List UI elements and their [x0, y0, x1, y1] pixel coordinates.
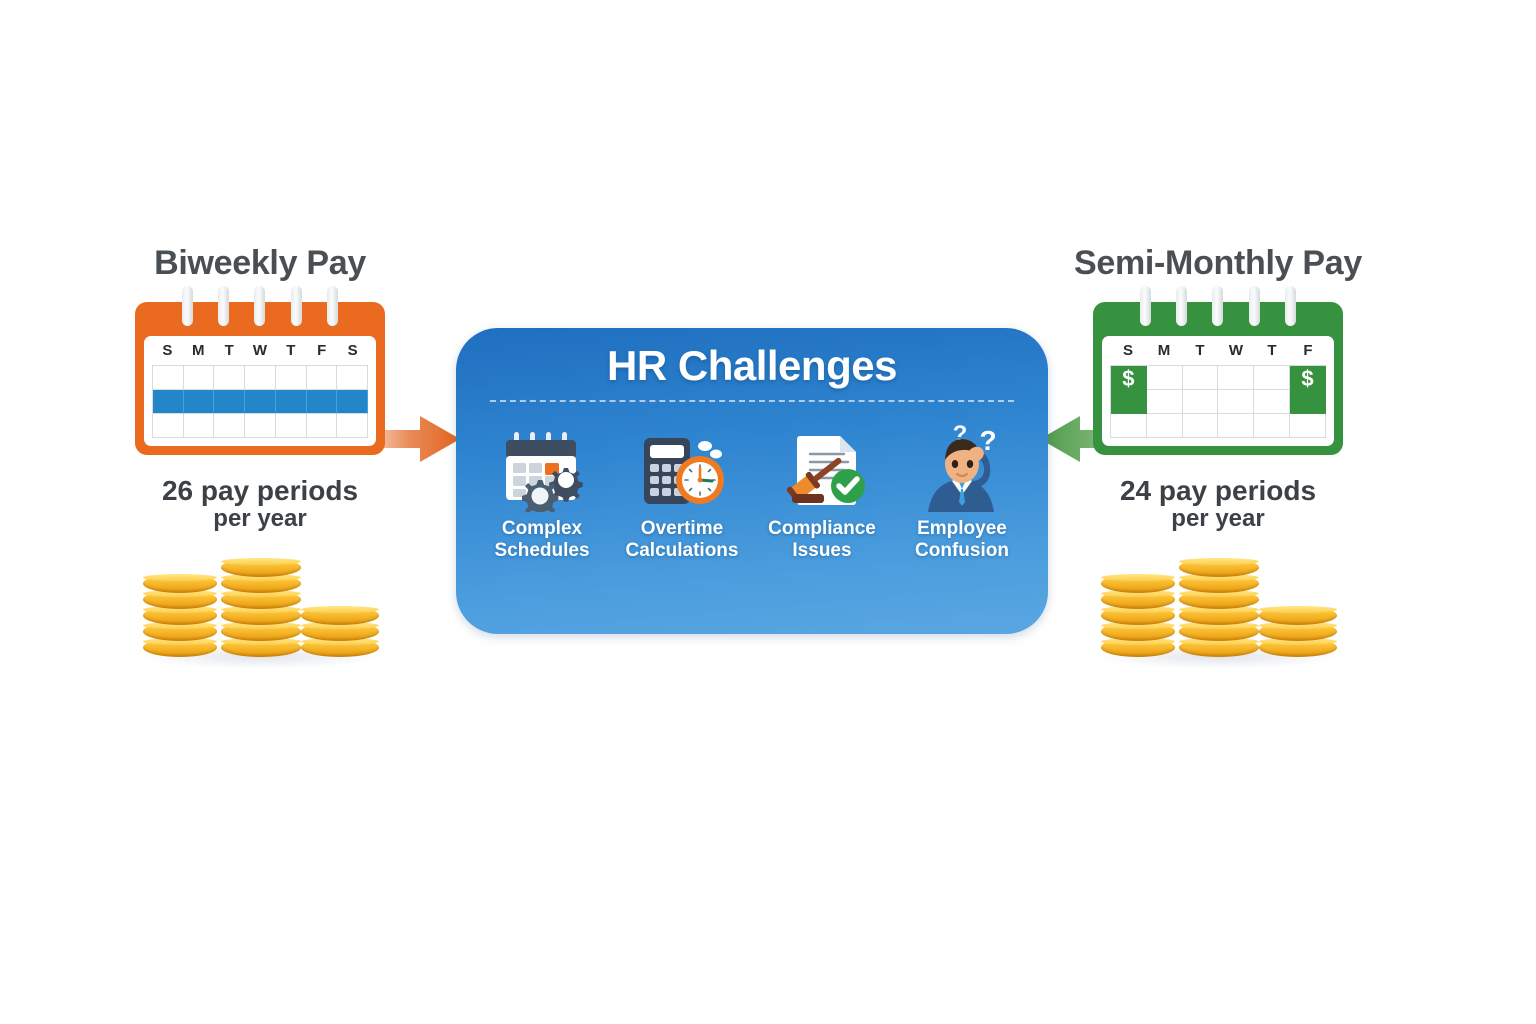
pay-periods-unit: per year	[1120, 506, 1316, 533]
hr-challenge-label: Complex Schedules	[494, 518, 589, 561]
semimonthly-coin-stacks	[1083, 559, 1353, 669]
calendar-cell	[1254, 366, 1290, 390]
day-header: S	[337, 343, 368, 360]
calendar-rings	[135, 286, 385, 312]
hr-challenge-list: Complex Schedules	[456, 408, 1048, 561]
day-header: M	[183, 343, 214, 360]
calendar-body: S M T W T F $	[1102, 336, 1334, 446]
calendar-week-row	[153, 414, 368, 438]
calendar-cell	[153, 414, 184, 438]
coin-icon	[143, 574, 217, 593]
payday-cell: $	[1111, 366, 1147, 390]
biweekly-calendar-wrap: S M T W T F S	[135, 302, 385, 455]
semimonthly-pay-periods: 24 pay periods per year	[1120, 475, 1316, 533]
coin-stack-icon	[1179, 561, 1259, 657]
calendar-cell-highlighted	[307, 390, 338, 414]
calendar-ring-icon	[1249, 286, 1260, 326]
calendar-cell	[1218, 414, 1254, 438]
calendar-cell	[1183, 390, 1219, 414]
day-header: T	[275, 343, 306, 360]
hr-challenge-label: Overtime Calculations	[626, 518, 739, 561]
payday-cell-continuation	[1111, 390, 1147, 414]
hr-challenge-label: Employee Confusion	[915, 518, 1009, 561]
calendar-week-row: $ $	[1111, 366, 1326, 390]
coin-stack-icon	[301, 609, 379, 657]
biweekly-title: Biweekly Pay	[154, 246, 366, 280]
calendar-cell	[337, 366, 368, 390]
day-header: W	[1218, 343, 1254, 360]
calendar-cell	[1147, 366, 1183, 390]
dollar-sign-icon: $	[1111, 370, 1146, 389]
payday-cell-continuation	[1290, 390, 1326, 414]
calendar-ring-icon	[1212, 286, 1223, 326]
coin-stack-icon	[1259, 609, 1337, 657]
calendar-cell	[1183, 414, 1219, 438]
day-header: F	[306, 343, 337, 360]
calendar-rings	[1093, 286, 1343, 312]
calendar-cell	[153, 366, 184, 390]
hr-challenges-title: HR Challenges	[607, 342, 897, 390]
day-header: S	[152, 343, 183, 360]
calendar-cell	[1147, 414, 1183, 438]
calendar-ring-icon	[1140, 286, 1151, 326]
calendar-ring-icon	[1176, 286, 1187, 326]
hr-challenge-label-line1: Compliance	[768, 518, 876, 539]
semimonthly-calendar-wrap: S M T W T F $	[1093, 302, 1343, 455]
calendar-cell	[307, 366, 338, 390]
confused-employee-icon: ? ?	[914, 408, 1010, 512]
coin-stack-icon	[221, 561, 301, 657]
calendar-cell	[214, 414, 245, 438]
gavel-document-check-icon	[774, 408, 870, 512]
calendar-week-row	[1111, 390, 1326, 414]
dollar-sign-icon: $	[1290, 370, 1325, 389]
calendar-cell-highlighted	[276, 390, 307, 414]
hr-challenge-item-complex-schedules[interactable]: Complex Schedules	[478, 408, 606, 561]
calendar-ring-icon	[254, 286, 265, 326]
hr-challenge-label-line1: Overtime	[641, 518, 723, 539]
calendar-cell	[1218, 366, 1254, 390]
day-header: T	[1254, 343, 1290, 360]
calendar-cell	[1183, 366, 1219, 390]
calendar-cell	[1254, 390, 1290, 414]
calendar-cell-highlighted	[337, 390, 368, 414]
calendar-cell	[1111, 414, 1147, 438]
coin-icon	[1101, 574, 1175, 593]
calendar-cell	[276, 366, 307, 390]
hr-challenge-item-compliance-issues[interactable]: Compliance Issues	[758, 408, 886, 561]
calendar-gears-icon	[494, 408, 590, 512]
calendar-cell	[214, 366, 245, 390]
calendar-cell	[337, 414, 368, 438]
panel-divider	[490, 400, 1014, 402]
pay-periods-value: 24 pay periods	[1120, 475, 1316, 506]
calendar-cell	[1290, 414, 1326, 438]
calendar-body: S M T W T F S	[144, 336, 376, 446]
calculator-clock-icon	[634, 408, 730, 512]
hr-challenge-item-overtime-calculations[interactable]: Overtime Calculations	[618, 408, 746, 561]
calendar-cell	[307, 414, 338, 438]
calendar-cell	[1218, 390, 1254, 414]
calendar-ring-icon	[291, 286, 302, 326]
day-header: F	[1290, 343, 1326, 360]
calendar-week-row	[1111, 414, 1326, 438]
coin-icon	[1179, 558, 1259, 577]
calendar-ring-icon	[182, 286, 193, 326]
pay-periods-value: 26 pay periods	[162, 475, 358, 506]
calendar-ring-icon	[218, 286, 229, 326]
semimonthly-title: Semi-Monthly Pay	[1074, 246, 1362, 280]
day-header: T	[214, 343, 245, 360]
calendar-ring-icon	[327, 286, 338, 326]
coin-icon	[221, 558, 301, 577]
hr-challenges-panel: HR Challenges	[456, 328, 1048, 634]
calendar-cell-highlighted	[153, 390, 184, 414]
hr-challenge-label-line1: Complex	[502, 518, 582, 539]
pay-periods-unit: per year	[162, 506, 358, 533]
day-header-row: S M T W T F S	[152, 342, 368, 365]
coin-icon	[1259, 606, 1337, 625]
hr-challenge-label-line2: Confusion	[915, 540, 1009, 561]
hr-challenge-item-employee-confusion[interactable]: ? ? Employee Confusion	[898, 408, 1026, 561]
coin-icon	[301, 606, 379, 625]
calendar-cell	[1147, 390, 1183, 414]
payday-cell: $	[1290, 366, 1326, 390]
calendar-cell	[184, 366, 215, 390]
calendar-cell	[245, 414, 276, 438]
calendar-grid: $ $	[1110, 365, 1326, 438]
hr-challenge-label-line2: Calculations	[626, 540, 739, 561]
calendar-ring-icon	[1285, 286, 1296, 326]
coin-stack-icon	[1101, 577, 1175, 657]
calendar-cell	[276, 414, 307, 438]
calendar-cell-highlighted	[184, 390, 215, 414]
calendar-cell-highlighted	[214, 390, 245, 414]
hr-challenge-label-line2: Schedules	[494, 540, 589, 561]
biweekly-pay-periods: 26 pay periods per year	[162, 475, 358, 533]
calendar-cell	[1254, 414, 1290, 438]
coin-stack-icon	[143, 577, 217, 657]
calendar-cell	[184, 414, 215, 438]
day-header: T	[1182, 343, 1218, 360]
day-header-row: S M T W T F	[1110, 342, 1326, 365]
biweekly-coin-stacks	[125, 559, 395, 669]
day-header: M	[1146, 343, 1182, 360]
day-header: S	[1110, 343, 1146, 360]
hr-challenge-label: Compliance Issues	[768, 518, 876, 561]
hr-challenge-label-line2: Issues	[792, 540, 851, 561]
day-header: W	[245, 343, 276, 360]
calendar-cell-highlighted	[245, 390, 276, 414]
calendar-grid	[152, 365, 368, 438]
calendar-cell	[245, 366, 276, 390]
calendar-week-row-highlighted	[153, 390, 368, 414]
calendar-week-row	[153, 366, 368, 390]
hr-challenge-label-line1: Employee	[917, 518, 1007, 539]
